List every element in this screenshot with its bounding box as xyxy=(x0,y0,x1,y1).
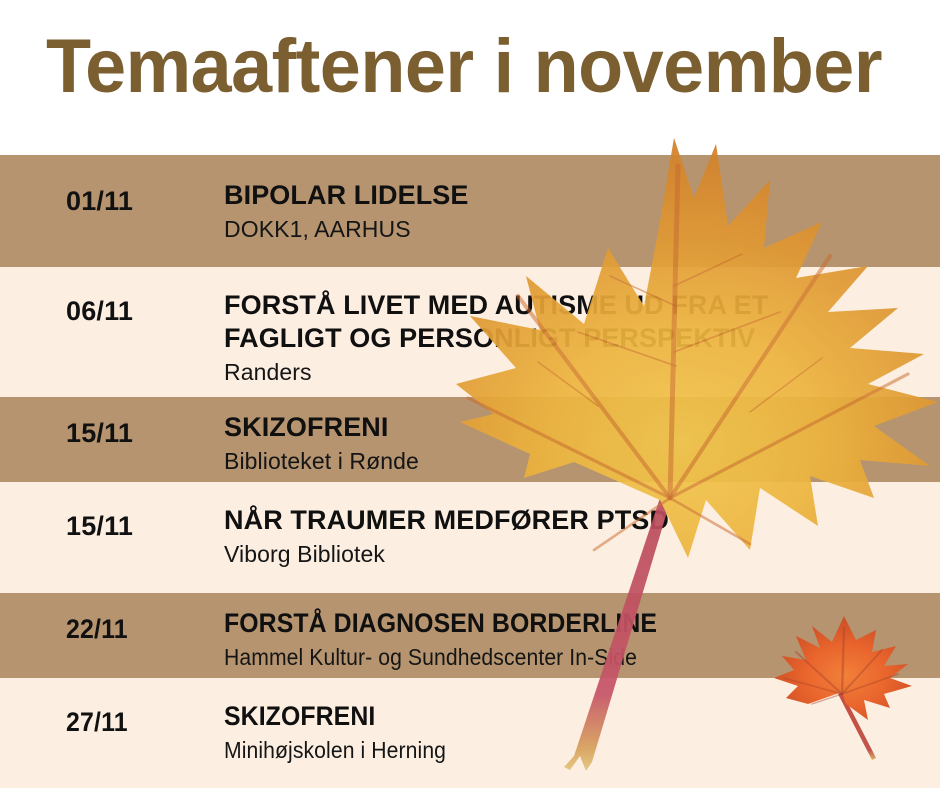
event-text: SKIZOFRENIMinihøjskolen i Herning xyxy=(224,700,930,765)
event-date: 15/11 xyxy=(66,510,133,542)
poster-canvas: Temaaftener i november 01/11BIPOLAR LIDE… xyxy=(0,0,940,788)
event-title: BIPOLAR LIDELSE xyxy=(224,179,930,212)
title-area: Temaaftener i november xyxy=(0,0,940,155)
event-date: 06/11 xyxy=(66,295,133,327)
event-row-inner: 06/11FORSTÅ LIVET MED AUTISME UD FRA ET … xyxy=(0,267,940,397)
event-title: NÅR TRAUMER MEDFØRER PTSD xyxy=(224,504,930,537)
event-title: SKIZOFRENI xyxy=(224,700,874,733)
event-date: 15/11 xyxy=(66,417,133,449)
event-venue: Randers xyxy=(224,357,930,387)
event-text: SKIZOFRENIBiblioteket i Rønde xyxy=(224,411,930,476)
event-row-inner: 27/11SKIZOFRENIMinihøjskolen i Herning xyxy=(0,678,940,788)
event-text: FORSTÅ DIAGNOSEN BORDERLINEHammel Kultur… xyxy=(224,607,930,672)
event-date: 01/11 xyxy=(66,185,133,217)
event-text: FORSTÅ LIVET MED AUTISME UD FRA ET FAGLI… xyxy=(224,289,930,387)
event-title: FORSTÅ LIVET MED AUTISME UD FRA ET FAGLI… xyxy=(224,289,930,355)
event-row: 22/11FORSTÅ DIAGNOSEN BORDERLINEHammel K… xyxy=(0,593,940,678)
event-row: 15/11NÅR TRAUMER MEDFØRER PTSDViborg Bib… xyxy=(0,482,940,593)
event-row-inner: 01/11BIPOLAR LIDELSEDOKK1, AARHUS xyxy=(0,155,940,267)
event-venue: Minihøjskolen i Herning xyxy=(224,735,874,765)
event-venue: Hammel Kultur- og Sundhedscenter In-Side xyxy=(224,642,874,672)
event-row-inner: 22/11FORSTÅ DIAGNOSEN BORDERLINEHammel K… xyxy=(0,593,940,678)
event-row-inner: 15/11NÅR TRAUMER MEDFØRER PTSDViborg Bib… xyxy=(0,482,940,593)
event-row: 06/11FORSTÅ LIVET MED AUTISME UD FRA ET … xyxy=(0,267,940,397)
event-row-inner: 15/11SKIZOFRENIBiblioteket i Rønde xyxy=(0,397,940,482)
event-venue: Viborg Bibliotek xyxy=(224,539,930,569)
event-text: BIPOLAR LIDELSEDOKK1, AARHUS xyxy=(224,179,930,244)
event-venue: DOKK1, AARHUS xyxy=(224,214,930,244)
event-date: 22/11 xyxy=(66,613,128,645)
event-list: 01/11BIPOLAR LIDELSEDOKK1, AARHUS06/11FO… xyxy=(0,155,940,788)
event-venue: Biblioteket i Rønde xyxy=(224,446,930,476)
page-title: Temaaftener i november xyxy=(46,24,882,110)
event-row: 27/11SKIZOFRENIMinihøjskolen i Herning xyxy=(0,678,940,788)
event-row: 15/11SKIZOFRENIBiblioteket i Rønde xyxy=(0,397,940,482)
event-date: 27/11 xyxy=(66,706,128,738)
event-text: NÅR TRAUMER MEDFØRER PTSDViborg Bibliote… xyxy=(224,504,930,569)
event-row: 01/11BIPOLAR LIDELSEDOKK1, AARHUS xyxy=(0,155,940,267)
event-title: FORSTÅ DIAGNOSEN BORDERLINE xyxy=(224,607,874,640)
event-title: SKIZOFRENI xyxy=(224,411,930,444)
